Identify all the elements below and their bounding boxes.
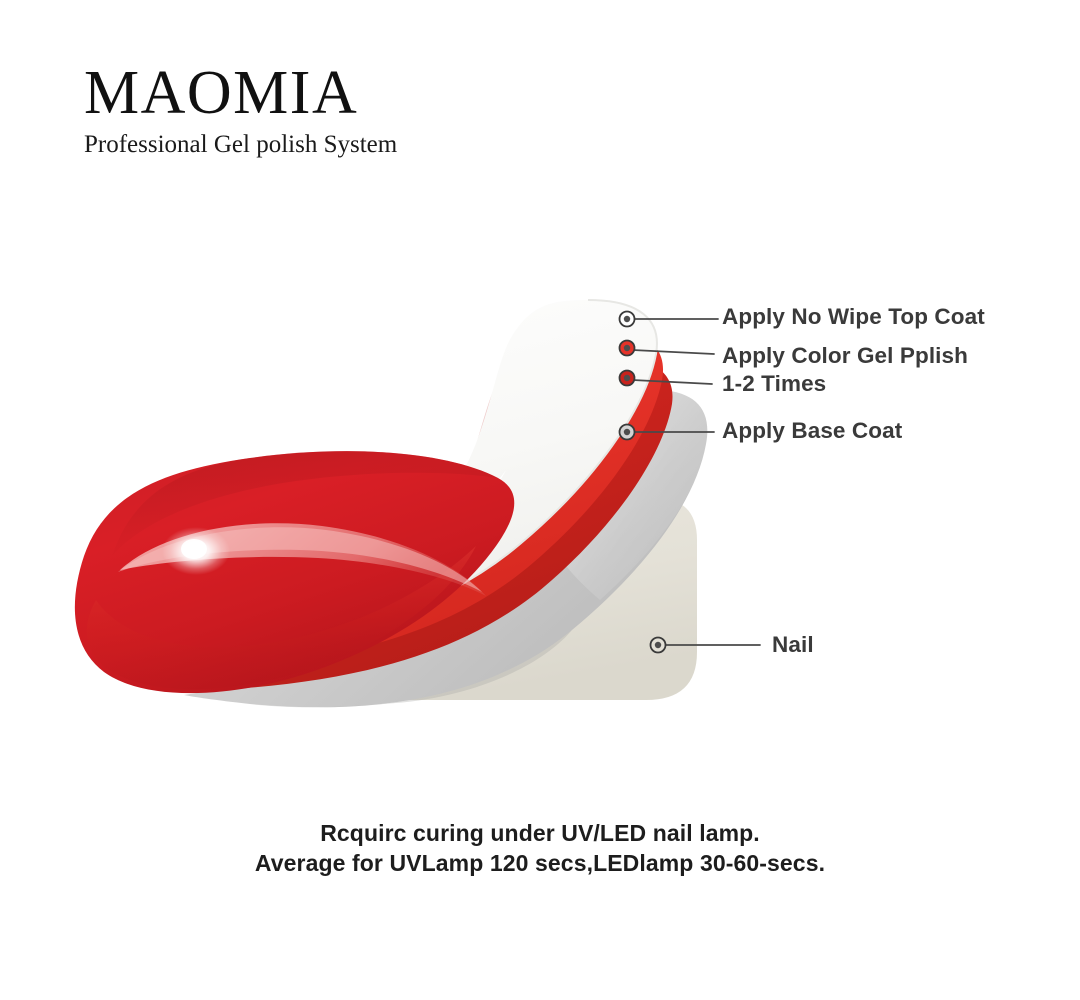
page-root: MAOMIA Professional Gel polish System [0, 0, 1080, 1000]
callout-label-color-gel: Apply Color Gel Pplish [722, 343, 968, 369]
callout-label-nail: Nail [772, 632, 814, 658]
footer-line-1: Rcquirc curing under UV/LED nail lamp. [0, 818, 1080, 848]
footer-note: Rcquirc curing under UV/LED nail lamp. A… [0, 818, 1080, 878]
callout-label-base-coat: Apply Base Coat [722, 418, 902, 444]
marker-top-coat [620, 312, 635, 327]
marker-base-coat [620, 425, 635, 440]
marker-color-gel [620, 341, 635, 356]
footer-line-2: Average for UVLamp 120 secs,LEDlamp 30-6… [0, 848, 1080, 878]
callout-label-top-coat: Apply No Wipe Top Coat [722, 304, 985, 330]
marker-times [620, 371, 635, 386]
callout-label-times: 1-2 Times [722, 371, 826, 397]
marker-nail [651, 638, 666, 653]
